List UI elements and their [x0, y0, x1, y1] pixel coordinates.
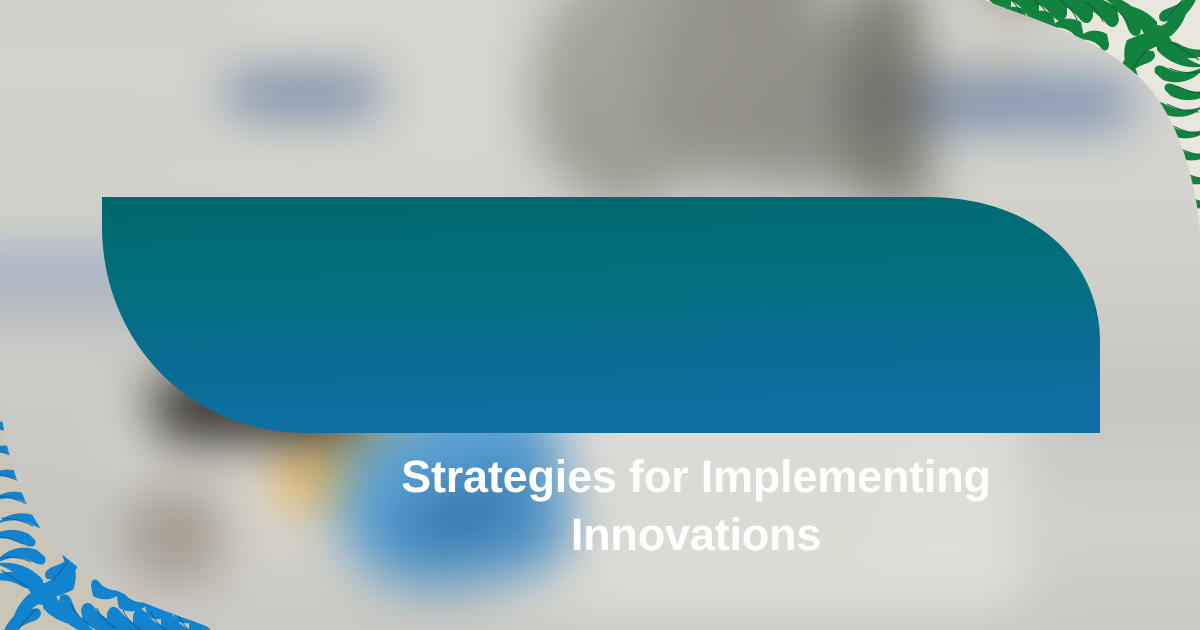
title-banner: Strategies for Implementing Innovations	[96, 190, 1106, 440]
background-blue-sign-shadow	[240, 106, 370, 116]
social-card: Strategies for Implementing Innovations	[0, 0, 1200, 630]
background-blue-sign	[228, 78, 378, 108]
background-shelf-upper	[0, 60, 220, 76]
background-shelf-lower	[0, 90, 150, 100]
background-dark-equipment	[130, 488, 220, 578]
page-title: Strategies for Implementing Innovations	[246, 386, 1146, 626]
